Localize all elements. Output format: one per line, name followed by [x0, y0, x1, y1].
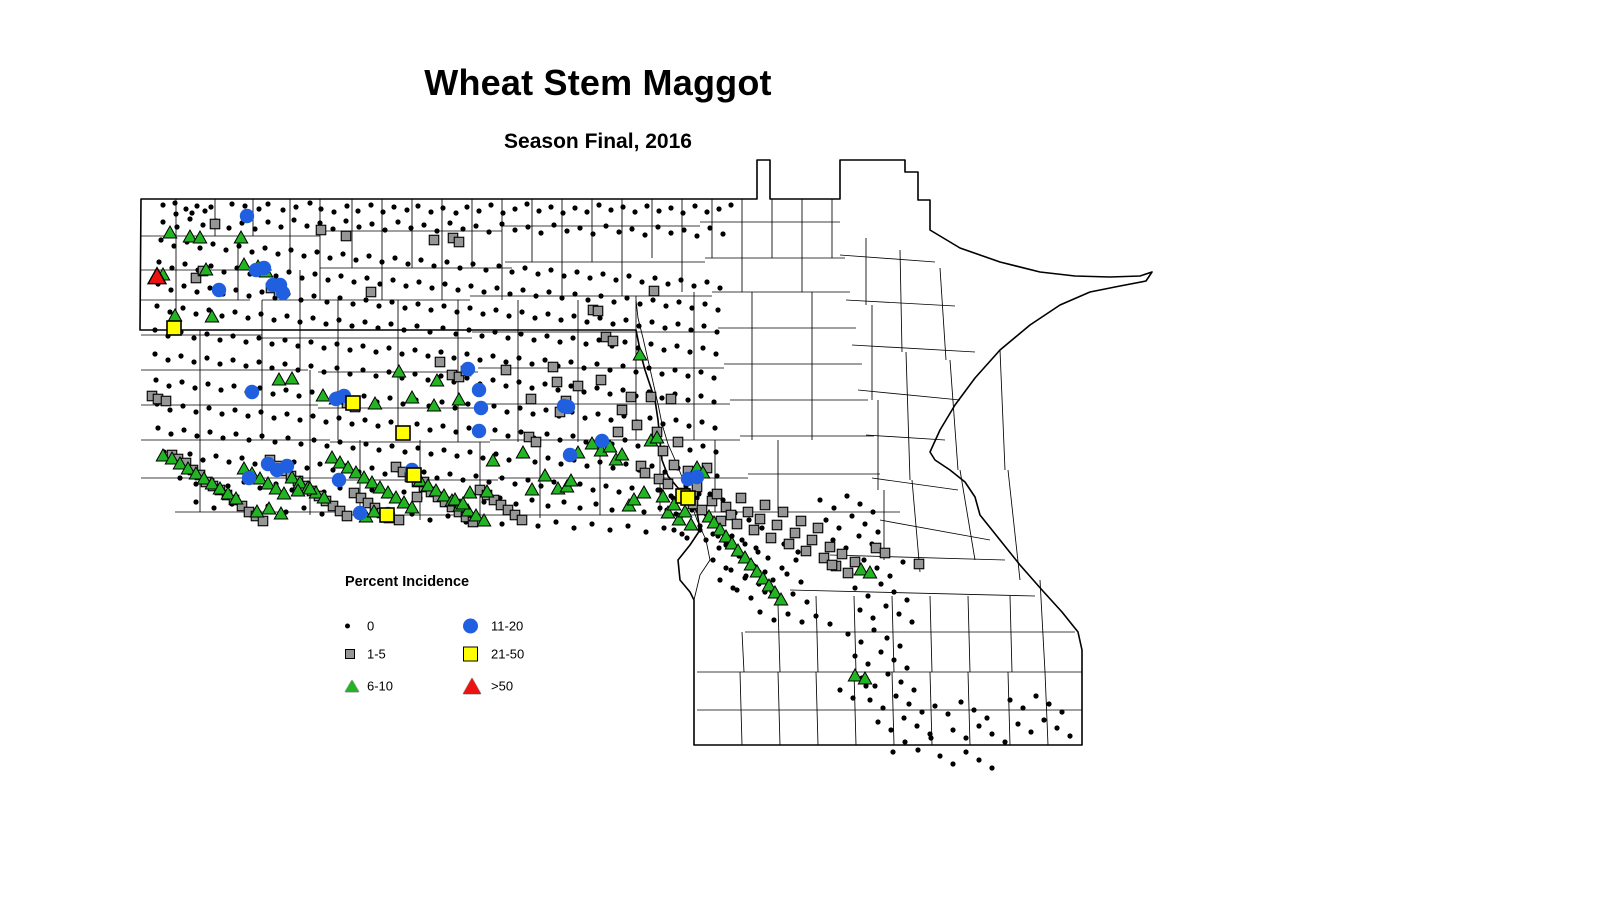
data-point — [557, 339, 562, 344]
data-point — [616, 229, 621, 234]
data-point — [535, 523, 540, 528]
data-point — [932, 703, 937, 708]
data-point — [513, 501, 518, 506]
data-point — [301, 253, 306, 258]
data-point — [167, 321, 181, 335]
data-point — [723, 565, 728, 570]
data-point — [236, 243, 241, 248]
data-point — [530, 411, 535, 416]
data-point — [640, 468, 650, 478]
data-point — [717, 577, 722, 582]
data-point — [350, 301, 355, 306]
data-point — [644, 203, 649, 208]
data-point — [538, 483, 543, 488]
data-point — [529, 385, 534, 390]
data-point — [386, 345, 391, 350]
data-point — [275, 251, 280, 256]
data-point — [308, 363, 313, 368]
data-point — [649, 286, 659, 296]
data-point — [517, 515, 527, 525]
data-point — [493, 307, 498, 312]
data-point — [296, 393, 301, 398]
data-point — [1054, 725, 1059, 730]
data-point — [327, 255, 332, 260]
data-point — [172, 200, 177, 205]
data-point — [308, 339, 313, 344]
legend-label-gt50: >50 — [491, 679, 513, 694]
data-point — [285, 435, 290, 440]
data-point — [503, 359, 508, 364]
data-point — [418, 257, 423, 262]
data-point — [635, 443, 640, 448]
data-point — [844, 493, 849, 498]
data-point — [363, 297, 368, 302]
data-point — [871, 627, 876, 632]
data-point — [574, 269, 579, 274]
data-point — [790, 528, 800, 538]
data-point — [784, 539, 794, 549]
data-point — [376, 447, 381, 452]
data-point — [743, 507, 753, 517]
data-point — [221, 269, 226, 274]
data-point — [825, 542, 835, 552]
data-point — [697, 505, 707, 515]
data-point — [518, 331, 523, 336]
data-point — [496, 263, 501, 268]
data-point — [171, 243, 176, 248]
data-point — [856, 533, 861, 538]
data-point — [570, 335, 575, 340]
data-point — [963, 749, 968, 754]
data-point — [394, 515, 404, 525]
data-point — [288, 247, 293, 252]
data-point — [212, 283, 226, 297]
data-point — [817, 497, 822, 502]
data-point — [476, 208, 481, 213]
data-point — [218, 387, 223, 392]
data-point — [252, 226, 257, 231]
data-point — [421, 469, 426, 474]
data-point — [795, 549, 800, 554]
data-point — [177, 475, 182, 480]
data-point — [512, 481, 517, 486]
data-point — [887, 573, 892, 578]
data-point — [403, 283, 408, 288]
data-point — [278, 224, 283, 229]
data-point — [324, 443, 329, 448]
legend-symbol-dot-icon — [345, 624, 350, 629]
data-point — [280, 459, 294, 473]
data-point — [464, 351, 469, 356]
data-point — [316, 225, 326, 235]
data-point — [766, 533, 776, 543]
data-point — [457, 265, 462, 270]
data-point — [414, 323, 419, 328]
data-point — [388, 321, 393, 326]
data-point — [529, 361, 534, 366]
data-point — [712, 425, 717, 430]
data-point — [639, 279, 644, 284]
data-point — [849, 513, 854, 518]
data-point — [295, 367, 300, 372]
data-point — [837, 687, 842, 692]
data-point — [884, 635, 889, 640]
data-point — [689, 305, 694, 310]
data-point — [898, 679, 903, 684]
data-point — [206, 405, 211, 410]
data-point — [858, 639, 863, 644]
data-point — [525, 477, 530, 482]
data-point — [610, 465, 615, 470]
data-point — [491, 403, 496, 408]
data-point — [230, 357, 235, 362]
data-point — [688, 327, 693, 332]
data-point — [311, 437, 316, 442]
data-point — [265, 219, 270, 224]
data-point — [813, 613, 818, 618]
data-point — [373, 349, 378, 354]
data-point — [656, 208, 661, 213]
data-point — [730, 585, 735, 590]
legend: Percent Incidence 0 1-5 6-10 11-20 21-50… — [345, 574, 575, 700]
data-point — [284, 313, 289, 318]
data-point — [499, 475, 504, 480]
data-point — [490, 353, 495, 358]
data-point — [242, 203, 247, 208]
data-point — [230, 333, 235, 338]
legend-symbol-blue-circle-icon — [463, 619, 478, 634]
data-point — [200, 457, 205, 462]
data-point — [193, 409, 198, 414]
data-point — [685, 397, 690, 402]
data-point — [717, 285, 722, 290]
data-point — [850, 557, 860, 567]
data-point — [649, 319, 654, 324]
data-point — [798, 579, 803, 584]
data-point — [280, 207, 285, 212]
data-point — [440, 205, 445, 210]
data-point — [984, 715, 989, 720]
data-point — [187, 451, 192, 456]
data-point — [178, 353, 183, 358]
data-point — [976, 723, 981, 728]
data-point — [217, 337, 222, 342]
data-point — [1007, 697, 1012, 702]
data-point — [363, 441, 368, 446]
data-point — [553, 519, 558, 524]
data-point — [524, 201, 529, 206]
data-point — [728, 202, 733, 207]
data-point — [532, 459, 537, 464]
data-point — [608, 207, 613, 212]
data-point — [477, 357, 482, 362]
data-point — [878, 581, 883, 586]
data-point — [661, 525, 666, 530]
data-point — [759, 525, 764, 530]
data-point — [210, 241, 215, 246]
data-point — [525, 483, 538, 495]
data-point — [594, 361, 599, 366]
data-point — [700, 345, 705, 350]
data-point — [551, 479, 556, 484]
data-point — [655, 224, 660, 229]
data-point — [520, 287, 525, 292]
data-point — [488, 202, 493, 207]
data-point — [713, 449, 718, 454]
data-point — [594, 385, 599, 390]
data-point — [673, 417, 678, 422]
data-point — [582, 415, 587, 420]
data-point — [379, 259, 384, 264]
data-point — [587, 275, 592, 280]
data-point — [389, 443, 394, 448]
data-point — [466, 425, 471, 430]
data-point — [637, 486, 650, 498]
data-point — [707, 225, 712, 230]
data-point — [1067, 733, 1072, 738]
data-point — [402, 449, 407, 454]
data-point — [891, 657, 896, 662]
data-point — [472, 424, 486, 438]
data-point — [558, 317, 563, 322]
data-point — [375, 325, 380, 330]
data-point — [662, 325, 667, 330]
data-point — [669, 460, 679, 470]
data-point — [194, 203, 199, 208]
data-point — [194, 433, 199, 438]
data-point — [286, 269, 291, 274]
data-point — [919, 709, 924, 714]
data-point — [492, 427, 497, 432]
data-point — [166, 383, 171, 388]
data-point — [684, 518, 697, 530]
data-point — [694, 233, 699, 238]
data-point — [285, 372, 298, 384]
data-point — [376, 303, 381, 308]
data-point — [686, 423, 691, 428]
data-point — [180, 403, 185, 408]
data-point — [373, 373, 378, 378]
data-point — [479, 333, 484, 338]
data-point — [1041, 717, 1046, 722]
data-point — [546, 289, 551, 294]
data-point — [548, 204, 553, 209]
data-point — [906, 701, 911, 706]
data-point — [202, 208, 207, 213]
data-point — [152, 327, 157, 332]
data-point — [692, 203, 697, 208]
data-point — [676, 299, 681, 304]
data-point — [552, 377, 562, 387]
data-point — [452, 393, 465, 405]
data-point — [336, 415, 341, 420]
data-point — [928, 735, 933, 740]
data-point — [192, 385, 197, 390]
data-point — [337, 295, 342, 300]
data-point — [465, 401, 470, 406]
data-point — [401, 489, 406, 494]
data-point — [843, 568, 853, 578]
data-point — [412, 371, 417, 376]
data-point — [958, 699, 963, 704]
data-point — [499, 221, 504, 226]
data-point — [386, 369, 391, 374]
data-point — [257, 261, 271, 275]
data-point — [428, 451, 433, 456]
data-point — [447, 220, 452, 225]
data-point — [545, 503, 550, 508]
data-point — [167, 407, 172, 412]
data-point — [608, 336, 618, 346]
data-point — [239, 455, 244, 460]
data-point — [646, 365, 651, 370]
data-point — [191, 335, 196, 340]
data-point — [375, 423, 380, 428]
data-point — [880, 705, 885, 710]
data-point — [701, 323, 706, 328]
data-point — [342, 511, 352, 521]
data-point — [460, 226, 465, 231]
data-point — [402, 305, 407, 310]
data-point — [444, 259, 449, 264]
data-point — [600, 271, 605, 276]
data-point — [698, 369, 703, 374]
data-point — [259, 433, 264, 438]
data-point — [187, 216, 192, 221]
data-point — [793, 557, 798, 562]
data-point — [659, 395, 664, 400]
data-point — [590, 487, 595, 492]
data-point — [233, 287, 238, 292]
data-point — [904, 665, 909, 670]
data-point — [609, 507, 614, 512]
data-point — [505, 335, 510, 340]
data-point — [674, 343, 679, 348]
data-point — [470, 261, 475, 266]
data-point — [323, 419, 328, 424]
data-point — [180, 305, 185, 310]
data-point — [679, 531, 684, 536]
data-point — [231, 383, 236, 388]
data-point — [710, 557, 715, 562]
data-point — [282, 337, 287, 342]
data-point — [258, 516, 268, 526]
data-point — [441, 303, 446, 308]
data-point — [396, 426, 410, 440]
data-point — [700, 443, 705, 448]
data-point — [499, 521, 504, 526]
legend-symbol-red-triangle-icon — [463, 678, 481, 694]
data-point — [217, 361, 222, 366]
data-point — [595, 411, 600, 416]
data-point — [561, 499, 566, 504]
data-point — [182, 261, 187, 266]
data-point — [169, 265, 174, 270]
data-point — [728, 567, 733, 572]
data-point — [865, 593, 870, 598]
data-point — [765, 555, 770, 560]
data-point — [208, 204, 213, 209]
data-point — [336, 317, 341, 322]
data-point — [796, 516, 806, 526]
data-point — [298, 297, 303, 302]
data-point — [412, 492, 422, 502]
map-figure: Wheat Stem Maggot Season Final, 2016 — [0, 0, 1612, 900]
data-point — [243, 339, 248, 344]
data-point — [915, 747, 920, 752]
data-point — [464, 204, 469, 209]
data-point — [778, 507, 788, 517]
data-point — [298, 441, 303, 446]
data-point — [504, 409, 509, 414]
data-point — [189, 210, 194, 215]
data-point — [454, 453, 459, 458]
data-point — [615, 448, 628, 460]
data-point — [512, 206, 517, 211]
data-point — [704, 209, 709, 214]
data-point — [657, 505, 662, 510]
data-point — [613, 427, 623, 437]
data-point — [531, 437, 541, 447]
data-point — [517, 405, 522, 410]
data-point — [380, 508, 394, 522]
data-point — [827, 560, 837, 570]
data-point — [1020, 705, 1025, 710]
data-point — [623, 317, 628, 322]
data-point — [480, 311, 485, 316]
data-point — [870, 615, 875, 620]
data-point — [507, 291, 512, 296]
data-point — [533, 293, 538, 298]
data-point — [545, 311, 550, 316]
data-point — [607, 367, 612, 372]
data-point — [963, 735, 968, 740]
data-point — [516, 446, 529, 458]
data-point — [726, 510, 736, 520]
data-point — [716, 545, 721, 550]
data-point — [341, 231, 351, 241]
data-point — [596, 375, 606, 385]
data-point — [429, 285, 434, 290]
data-point — [445, 513, 450, 518]
data-point — [271, 317, 276, 322]
data-point — [314, 249, 319, 254]
data-point — [262, 502, 275, 514]
data-point — [414, 421, 419, 426]
data-point — [256, 206, 261, 211]
data-point — [785, 611, 790, 616]
data-point — [307, 200, 312, 205]
data-point — [337, 439, 342, 444]
data-point — [269, 365, 274, 370]
data-point — [577, 225, 582, 230]
data-point — [408, 225, 413, 230]
data-point — [743, 573, 748, 578]
data-point — [506, 457, 511, 462]
data-point — [666, 394, 676, 404]
data-point — [633, 369, 638, 374]
data-point — [428, 209, 433, 214]
data-point — [360, 343, 365, 348]
data-point — [874, 565, 879, 570]
data-point — [183, 206, 188, 211]
data-point — [155, 425, 160, 430]
data-point — [243, 363, 248, 368]
data-point — [755, 549, 760, 554]
data-point — [799, 619, 804, 624]
data-point — [347, 347, 352, 352]
data-point — [845, 631, 850, 636]
